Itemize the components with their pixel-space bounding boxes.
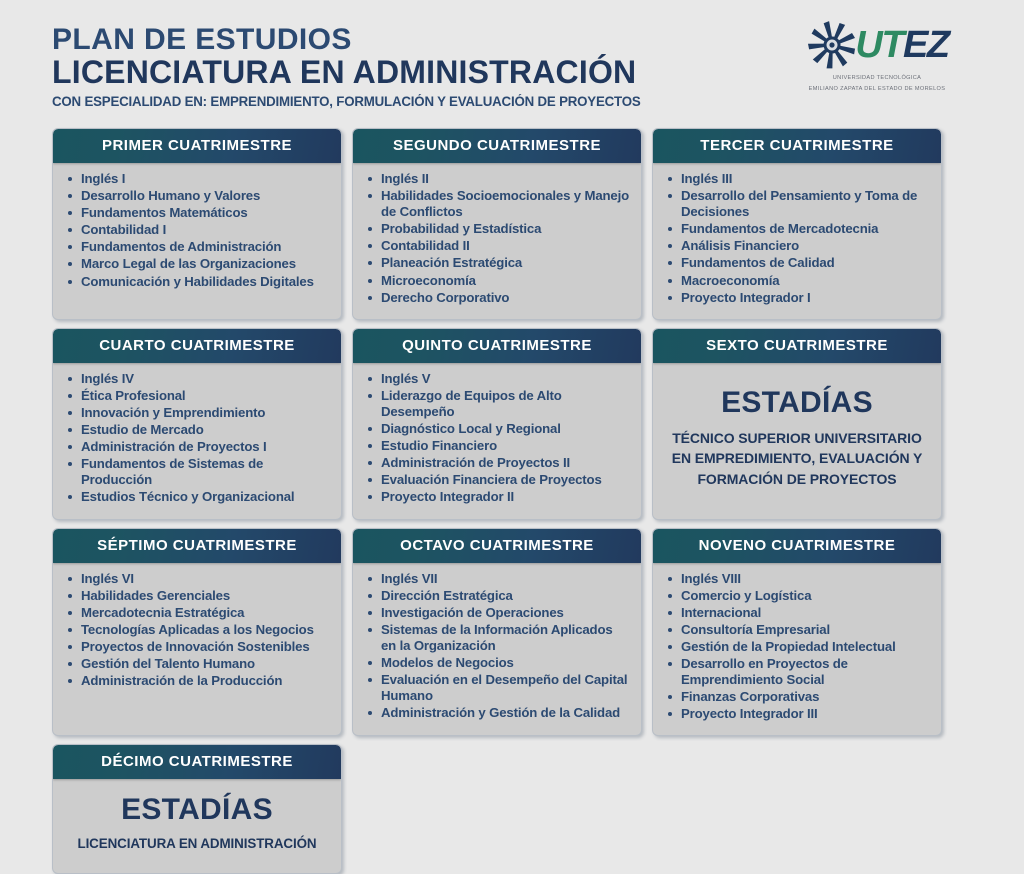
course-item: Gestión del Talento Humano <box>65 656 331 672</box>
quarter-card-title-quinto: QUINTO CUATRIMESTRE <box>353 329 641 363</box>
course-item: Estudio Financiero <box>365 438 631 454</box>
course-item: Inglés III <box>665 171 931 187</box>
estadias-body-decimo: ESTADÍASLICENCIATURA EN ADMINISTRACIÓN <box>53 779 341 872</box>
quarter-card-body-segundo: Inglés IIHabilidades Socioemocionales y … <box>353 163 641 319</box>
course-item: Administración de Proyectos II <box>365 455 631 471</box>
course-item: Macroeconomía <box>665 273 931 289</box>
course-item: Fundamentos Matemáticos <box>65 205 331 221</box>
course-item: Fundamentos de Administración <box>65 239 331 255</box>
course-item: Desarrollo Humano y Valores <box>65 188 331 204</box>
quarter-card-tercer[interactable]: TERCER CUATRIMESTREInglés IIIDesarrollo … <box>652 128 942 320</box>
page-title-line2: LICENCIATURA EN ADMINISTRACIÓN <box>52 56 650 90</box>
course-item: Inglés IV <box>65 371 331 387</box>
course-item: Internacional <box>665 605 931 621</box>
course-list-tercer: Inglés IIIDesarrollo del Pensamiento y T… <box>665 171 931 306</box>
course-item: Ética Profesional <box>65 388 331 404</box>
course-item: Consultoría Empresarial <box>665 622 931 638</box>
quarter-card-primer[interactable]: PRIMER CUATRIMESTREInglés IDesarrollo Hu… <box>52 128 342 320</box>
quarter-card-noveno[interactable]: NOVENO CUATRIMESTREInglés VIIIComercio y… <box>652 528 942 737</box>
estadias-title-sexto: ESTADÍAS <box>721 386 873 420</box>
course-item: Tecnologías Aplicadas a los Negocios <box>65 622 331 638</box>
page-title-line1: PLAN DE ESTUDIOS <box>52 24 650 56</box>
course-item: Comunicación y Habilidades Digitales <box>65 274 331 290</box>
course-item: Investigación de Operaciones <box>365 605 631 621</box>
logo-wordmark: UTEZ <box>855 26 948 64</box>
course-item: Proyecto Integrador III <box>665 706 931 722</box>
quarter-card-title-primer: PRIMER CUATRIMESTRE <box>53 129 341 163</box>
estadias-subtitle-sexto: TÉCNICO SUPERIOR UNIVERSITARIO EN EMPRED… <box>663 428 931 489</box>
course-item: Estudio de Mercado <box>65 422 331 438</box>
quarter-card-body-noveno: Inglés VIIIComercio y Logística Internac… <box>653 563 941 736</box>
utez-starburst-icon <box>805 20 859 70</box>
course-item: Liderazgo de Equipos de Alto Desempeño <box>365 388 631 420</box>
course-item: Gestión de la Propiedad Intelectual <box>665 639 931 655</box>
header-text-block: PLAN DE ESTUDIOS LICENCIATURA EN ADMINIS… <box>52 24 650 109</box>
quarter-card-body-primer: Inglés IDesarrollo Humano y ValoresFunda… <box>53 163 341 319</box>
course-item: Proyecto Integrador I <box>665 290 931 306</box>
course-list-segundo: Inglés IIHabilidades Socioemocionales y … <box>365 171 631 306</box>
course-item: Contabilidad II <box>365 238 631 254</box>
course-item: Evaluación Financiera de Proyectos <box>365 472 631 488</box>
course-item: Inglés VI <box>65 571 331 587</box>
course-item: Desarrollo del Pensamiento y Toma de Dec… <box>665 188 931 220</box>
course-item: Análisis Financiero <box>665 238 931 254</box>
course-item: Habilidades Gerenciales <box>65 588 331 604</box>
course-item: Inglés V <box>365 371 631 387</box>
course-item: Administración de la Producción <box>65 673 331 689</box>
course-item: Dirección Estratégica <box>365 588 631 604</box>
quarter-card-sexto[interactable]: SEXTO CUATRIMESTREESTADÍASTÉCNICO SUPERI… <box>652 328 942 520</box>
course-item: Proyectos de Innovación Sostenibles <box>65 639 331 655</box>
course-item: Comercio y Logística <box>665 588 931 604</box>
quarter-card-segundo[interactable]: SEGUNDO CUATRIMESTREInglés IIHabilidades… <box>352 128 642 320</box>
course-item: Desarrollo en Proyectos de Emprendimient… <box>665 656 931 688</box>
course-item: Marco Legal de las Organizaciones <box>65 256 331 272</box>
quarter-card-septimo[interactable]: SÉPTIMO CUATRIMESTREInglés VIHabilidades… <box>52 528 342 737</box>
course-item: Microeconomía <box>365 273 631 289</box>
estadias-subtitle-decimo: LICENCIATURA EN ADMINISTRACIÓN <box>77 835 316 852</box>
course-item: Finanzas Corporativas <box>665 689 931 705</box>
course-item: Fundamentos de Sistemas de Producción <box>65 456 331 488</box>
logo-mark: UTEZ <box>802 18 952 72</box>
course-item: Habilidades Socioemocionales y Manejo de… <box>365 188 631 220</box>
quarter-card-body-tercer: Inglés IIIDesarrollo del Pensamiento y T… <box>653 163 941 319</box>
logo-caption-line2: EMILIANO ZAPATA DEL ESTADO DE MORELOS <box>802 85 952 94</box>
course-item: Diagnóstico Local y Regional <box>365 421 631 437</box>
logo-ez-text: EZ <box>903 24 949 66</box>
course-item: Planeación Estratégica <box>365 255 631 271</box>
quarter-card-title-sexto: SEXTO CUATRIMESTRE <box>653 329 941 363</box>
quarter-card-octavo[interactable]: OCTAVO CUATRIMESTREInglés VIIDirección E… <box>352 528 642 737</box>
quarter-card-cuarto[interactable]: CUARTO CUATRIMESTREInglés IVÉtica Profes… <box>52 328 342 520</box>
course-item: Sistemas de la Información Aplicados en … <box>365 622 631 654</box>
course-item: Fundamentos de Calidad <box>665 255 931 271</box>
course-list-septimo: Inglés VIHabilidades GerencialesMercadot… <box>65 571 331 690</box>
course-item: Innovación y Emprendimiento <box>65 405 331 421</box>
course-list-cuarto: Inglés IVÉtica ProfesionalInnovación y E… <box>65 371 331 506</box>
quarter-card-title-decimo: DÉCIMO CUATRIMESTRE <box>53 745 341 779</box>
course-item: Fundamentos de Mercadotecnia <box>665 221 931 237</box>
course-item: Proyecto Integrador II <box>365 489 631 505</box>
quarter-card-body-septimo: Inglés VIHabilidades GerencialesMercadot… <box>53 563 341 736</box>
quarter-card-quinto[interactable]: QUINTO CUATRIMESTREInglés VLiderazgo de … <box>352 328 642 520</box>
quarter-card-title-cuarto: CUARTO CUATRIMESTRE <box>53 329 341 363</box>
page-header: PLAN DE ESTUDIOS LICENCIATURA EN ADMINIS… <box>0 0 1024 118</box>
course-item: Probabilidad y Estadística <box>365 221 631 237</box>
logo-caption-line1: UNIVERSIDAD TECNOLÓGICA <box>802 74 952 83</box>
course-item: Administración y Gestión de la Calidad <box>365 705 631 721</box>
course-item: Estudios Técnico y Organizacional <box>65 489 331 505</box>
curriculum-grid: PRIMER CUATRIMESTREInglés IDesarrollo Hu… <box>52 128 952 874</box>
course-item: Inglés II <box>365 171 631 187</box>
course-list-primer: Inglés IDesarrollo Humano y ValoresFunda… <box>65 171 331 290</box>
course-item: Mercadotecnia Estratégica <box>65 605 331 621</box>
course-item: Administración de Proyectos I <box>65 439 331 455</box>
course-list-quinto: Inglés VLiderazgo de Equipos de Alto Des… <box>365 371 631 506</box>
course-item: Inglés I <box>65 171 331 187</box>
estadias-body-sexto: ESTADÍASTÉCNICO SUPERIOR UNIVERSITARIO E… <box>653 363 941 519</box>
quarter-card-decimo[interactable]: DÉCIMO CUATRIMESTREESTADÍASLICENCIATURA … <box>52 744 342 873</box>
course-item: Inglés VII <box>365 571 631 587</box>
course-item: Modelos de Negocios <box>365 655 631 671</box>
quarter-card-title-septimo: SÉPTIMO CUATRIMESTRE <box>53 529 341 563</box>
course-item: Contabilidad I <box>65 222 331 238</box>
quarter-card-body-quinto: Inglés VLiderazgo de Equipos de Alto Des… <box>353 363 641 519</box>
course-list-octavo: Inglés VIIDirección EstratégicaInvestiga… <box>365 571 631 722</box>
utez-logo: UTEZ UNIVERSIDAD TECNOLÓGICA EMILIANO ZA… <box>802 18 952 93</box>
logo-ut-text: UT <box>855 24 903 66</box>
quarter-card-title-segundo: SEGUNDO CUATRIMESTRE <box>353 129 641 163</box>
course-list-noveno: Inglés VIIIComercio y Logística Internac… <box>665 571 931 723</box>
estadias-title-decimo: ESTADÍAS <box>121 793 273 827</box>
quarter-card-title-noveno: NOVENO CUATRIMESTRE <box>653 529 941 563</box>
page-subtitle: CON ESPECIALIDAD EN: EMPRENDIMIENTO, FOR… <box>52 94 641 109</box>
course-item: Derecho Corporativo <box>365 290 631 306</box>
quarter-card-title-tercer: TERCER CUATRIMESTRE <box>653 129 941 163</box>
course-item: Inglés VIII <box>665 571 931 587</box>
quarter-card-body-octavo: Inglés VIIDirección EstratégicaInvestiga… <box>353 563 641 736</box>
quarter-card-body-cuarto: Inglés IVÉtica ProfesionalInnovación y E… <box>53 363 341 519</box>
course-item: Evaluación en el Desempeño del Capital H… <box>365 672 631 704</box>
quarter-card-title-octavo: OCTAVO CUATRIMESTRE <box>353 529 641 563</box>
